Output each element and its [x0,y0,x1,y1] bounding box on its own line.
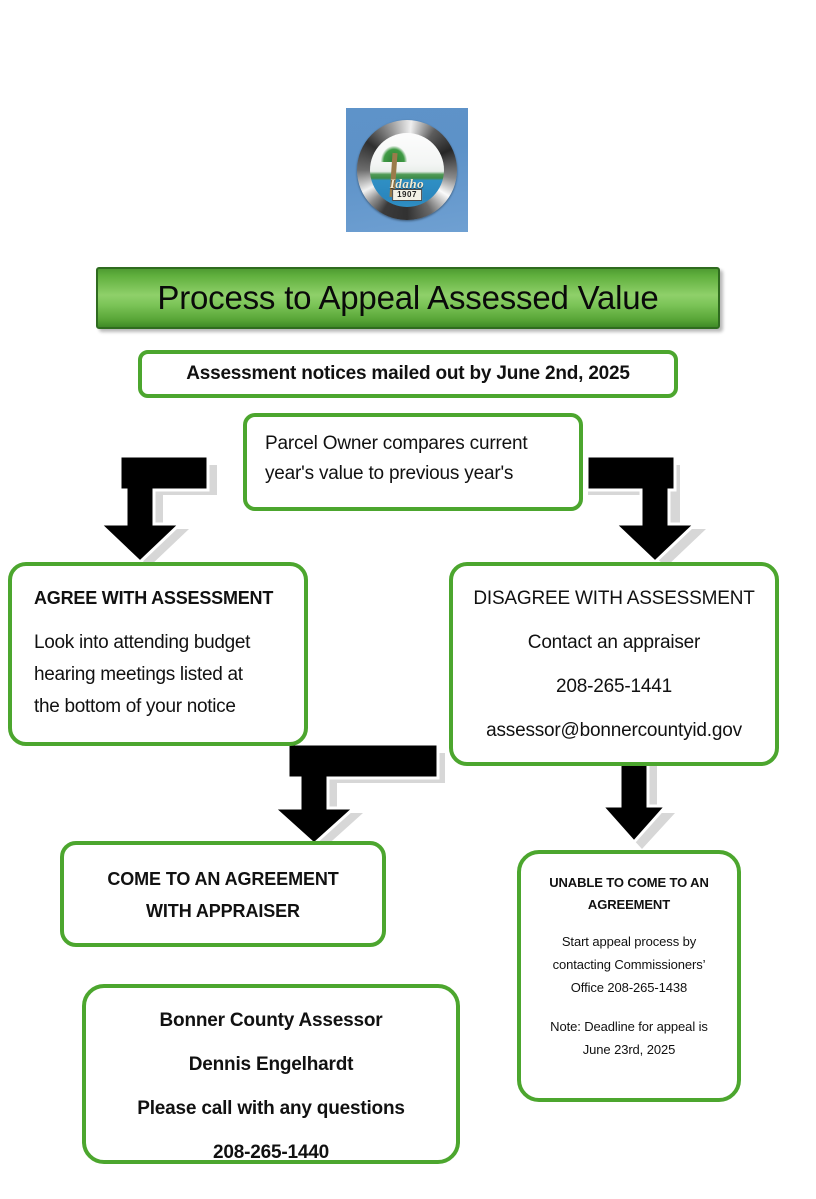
node-contact-invite: Please call with any questions [96,1098,446,1120]
node-agree-heading: AGREE WITH ASSESSMENT [34,588,284,609]
node-agree-line-3: the bottom of your notice [34,691,284,723]
page-title: Process to Appeal Assessed Value [98,279,718,317]
elbow-arrow-to-agreement [280,742,444,848]
node-unable-p2-line-1: Note: Deadline for appeal is [550,1019,708,1034]
seal-inner-scene: Idaho 1907 [370,133,444,207]
arrow-to-unable-agreement [600,758,670,848]
node-unable-paragraph-2: Note: Deadline for appeal is June 23rd, … [535,1015,723,1061]
node-contact-phone[interactable]: 208-265-1440 [96,1142,446,1164]
node-disagree-heading: DISAGREE WITH ASSESSMENT [467,588,761,610]
node-come-line-1: COME TO AN AGREEMENT [74,863,372,895]
node-come-line-2: WITH APPRAISER [74,895,372,927]
elbow-arrow-to-disagree [583,452,687,564]
node-disagree-line-1: Contact an appraiser [467,632,761,654]
node-unable-heading-line-1: UNABLE TO COME TO AN [549,875,709,890]
node-unable-heading: UNABLE TO COME TO AN AGREEMENT [535,872,723,916]
elbow-arrow-to-agree [108,452,212,564]
node-agree-with-assessment: AGREE WITH ASSESSMENT Look into attendin… [8,562,308,746]
node-disagree-with-assessment: DISAGREE WITH ASSESSMENT Contact an appr… [449,562,779,766]
node-come-to-agreement: COME TO AN AGREEMENT WITH APPRAISER [60,841,386,947]
bonner-county-seal-logo: Idaho 1907 [346,108,468,232]
node-unable-p1-line-1: Start appeal process by [562,934,696,949]
node-disagree-email[interactable]: assessor@bonnercountyid.gov [467,720,761,742]
node-unable-to-agree: UNABLE TO COME TO AN AGREEMENT Start app… [517,850,741,1102]
page-title-banner: Process to Appeal Assessed Value [96,267,720,329]
node-unable-p1-line-2: contacting Commissioners’ [553,957,706,972]
node-disagree-phone[interactable]: 208-265-1441 [467,676,761,698]
node-compare-line-1: Parcel Owner compares current [265,429,561,459]
node-assessment-notices-text: Assessment notices mailed out by June 2n… [186,363,630,385]
node-unable-p2-line-2: June 23rd, 2025 [583,1042,675,1057]
node-assessor-contact: Bonner County Assessor Dennis Engelhardt… [82,984,460,1164]
node-unable-p1-line-3[interactable]: Office 208-265-1438 [571,980,687,995]
node-compare-line-2: year's value to previous year's [265,459,561,489]
node-unable-heading-line-2: AGREEMENT [588,897,670,912]
node-unable-paragraph-1: Start appeal process by contacting Commi… [535,930,723,999]
node-contact-office: Bonner County Assessor [96,1010,446,1032]
node-contact-name: Dennis Engelhardt [96,1054,446,1076]
node-assessment-notices: Assessment notices mailed out by June 2n… [138,350,678,398]
node-parcel-owner-compares: Parcel Owner compares current year's val… [243,413,583,511]
seal-year-banner: 1907 [392,189,422,201]
flowchart-page: Idaho 1907 Process to Appeal Assessed Va… [0,0,816,1199]
node-agree-line-2: hearing meetings listed at [34,659,284,691]
node-agree-line-1: Look into attending budget [34,627,284,659]
